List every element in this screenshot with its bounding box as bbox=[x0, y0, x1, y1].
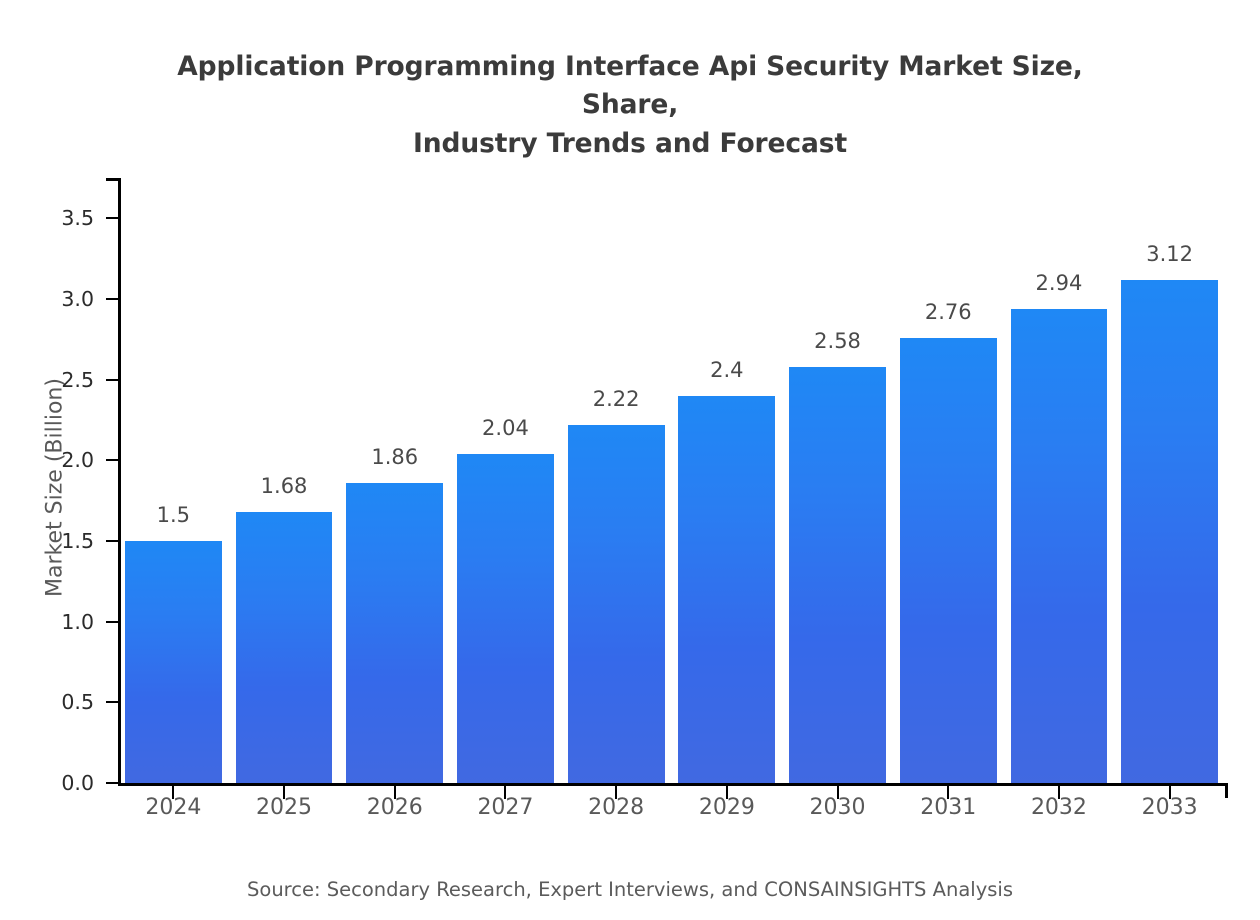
chart-figure: Application Programming Interface Api Se… bbox=[0, 0, 1260, 920]
bar-value-label: 2.04 bbox=[425, 416, 585, 440]
source-note: Source: Secondary Research, Expert Inter… bbox=[0, 878, 1260, 901]
bar[interactable] bbox=[1121, 280, 1218, 783]
bar-value-label: 2.4 bbox=[647, 358, 807, 382]
bar-value-label: 1.86 bbox=[315, 445, 475, 469]
bar[interactable] bbox=[568, 425, 665, 783]
bar[interactable] bbox=[236, 512, 333, 783]
x-tick-label: 2033 bbox=[1090, 795, 1250, 820]
chart-title: Application Programming Interface Api Se… bbox=[130, 48, 1130, 163]
bar-value-label: 3.12 bbox=[1090, 242, 1250, 266]
y-tick-label: 1.5 bbox=[14, 529, 94, 553]
bar[interactable] bbox=[678, 396, 775, 783]
y-tick-label: 0.5 bbox=[14, 690, 94, 714]
bar-value-label: 2.76 bbox=[868, 300, 1028, 324]
bar-value-label: 2.22 bbox=[536, 387, 696, 411]
chart-title-line-1: Application Programming Interface Api Se… bbox=[177, 51, 1083, 120]
bar[interactable] bbox=[457, 454, 554, 783]
bar-value-label: 2.58 bbox=[758, 329, 918, 353]
bar-value-label: 1.5 bbox=[93, 503, 253, 527]
bar[interactable] bbox=[125, 541, 222, 783]
y-tick-label: 3.5 bbox=[14, 206, 94, 230]
bar-value-label: 1.68 bbox=[204, 474, 364, 498]
bar[interactable] bbox=[789, 367, 886, 783]
bar[interactable] bbox=[1011, 309, 1108, 783]
chart-title-line-2: Industry Trends and Forecast bbox=[413, 128, 847, 159]
y-tick-label: 3.0 bbox=[14, 287, 94, 311]
bar-value-label: 2.94 bbox=[979, 271, 1139, 295]
bar[interactable] bbox=[900, 338, 997, 783]
y-tick-label: 1.0 bbox=[14, 610, 94, 634]
y-tick-label: 0.0 bbox=[14, 771, 94, 795]
bar[interactable] bbox=[346, 483, 443, 783]
y-tick-label: 2.0 bbox=[14, 448, 94, 472]
y-tick-label: 2.5 bbox=[14, 368, 94, 392]
